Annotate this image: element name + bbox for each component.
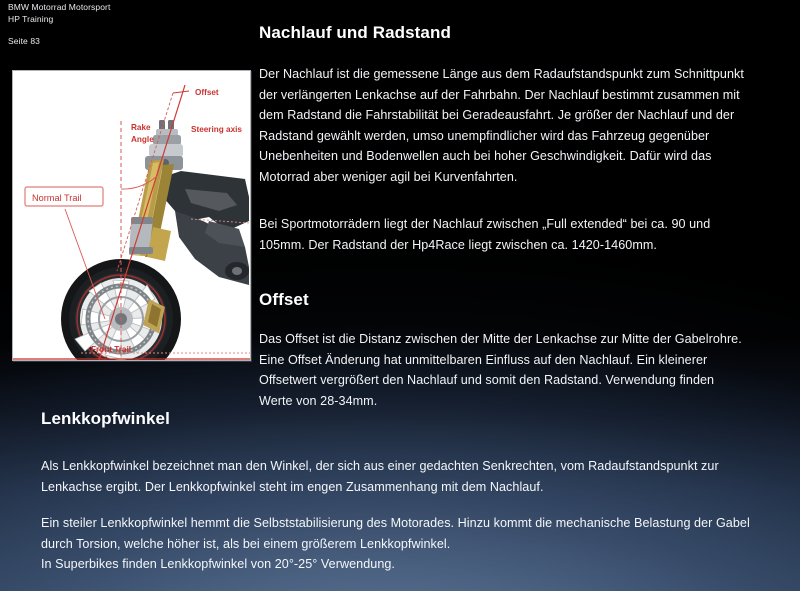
figure-label-rake-line1: Rake xyxy=(131,123,151,132)
motorcycle-geometry-svg: Offset Steering axis Rake Angle Front Tr… xyxy=(13,71,250,360)
figure-label-normal-trail-box: Normal Trail xyxy=(25,187,103,206)
figure-label-steering-axis: Steering axis xyxy=(191,125,242,134)
figure-label-offset: Offset xyxy=(195,88,219,97)
section-title-nachlauf: Nachlauf und Radstand xyxy=(259,23,451,43)
section-paragraph-lenkkopfwinkel-1: Als Lenkkopfwinkel bezeichnet man den Wi… xyxy=(41,456,771,497)
header-line-2: HP Training xyxy=(8,14,110,26)
figure-label-normal-trail: Normal Trail xyxy=(32,193,82,203)
page-number-label: Seite 83 xyxy=(8,36,40,46)
section-paragraph-nachlauf-2: Bei Sportmotorrädern liegt der Nachlauf … xyxy=(259,214,759,255)
section-title-lenkkopfwinkel: Lenkkopfwinkel xyxy=(41,409,170,429)
section-paragraph-lenkkopfwinkel-2: Ein steiler Lenkkopfwinkel hemmt die Sel… xyxy=(41,513,771,575)
section-paragraph-offset-1: Das Offset ist die Distanz zwischen der … xyxy=(259,329,751,411)
section-title-offset: Offset xyxy=(259,290,309,310)
header-line-1: BMW Motorrad Motorsport xyxy=(8,2,110,14)
header-branding: BMW Motorrad Motorsport HP Training xyxy=(8,2,110,25)
geometry-figure: Offset Steering axis Rake Angle Front Tr… xyxy=(12,70,251,361)
figure-label-rake-line2: Angle xyxy=(131,135,154,144)
section-paragraph-nachlauf-1: Der Nachlauf ist die gemessene Länge aus… xyxy=(259,64,759,187)
figure-label-front-trail: Front Trail xyxy=(91,345,131,354)
slide-root: BMW Motorrad Motorsport HP Training Seit… xyxy=(0,0,800,591)
